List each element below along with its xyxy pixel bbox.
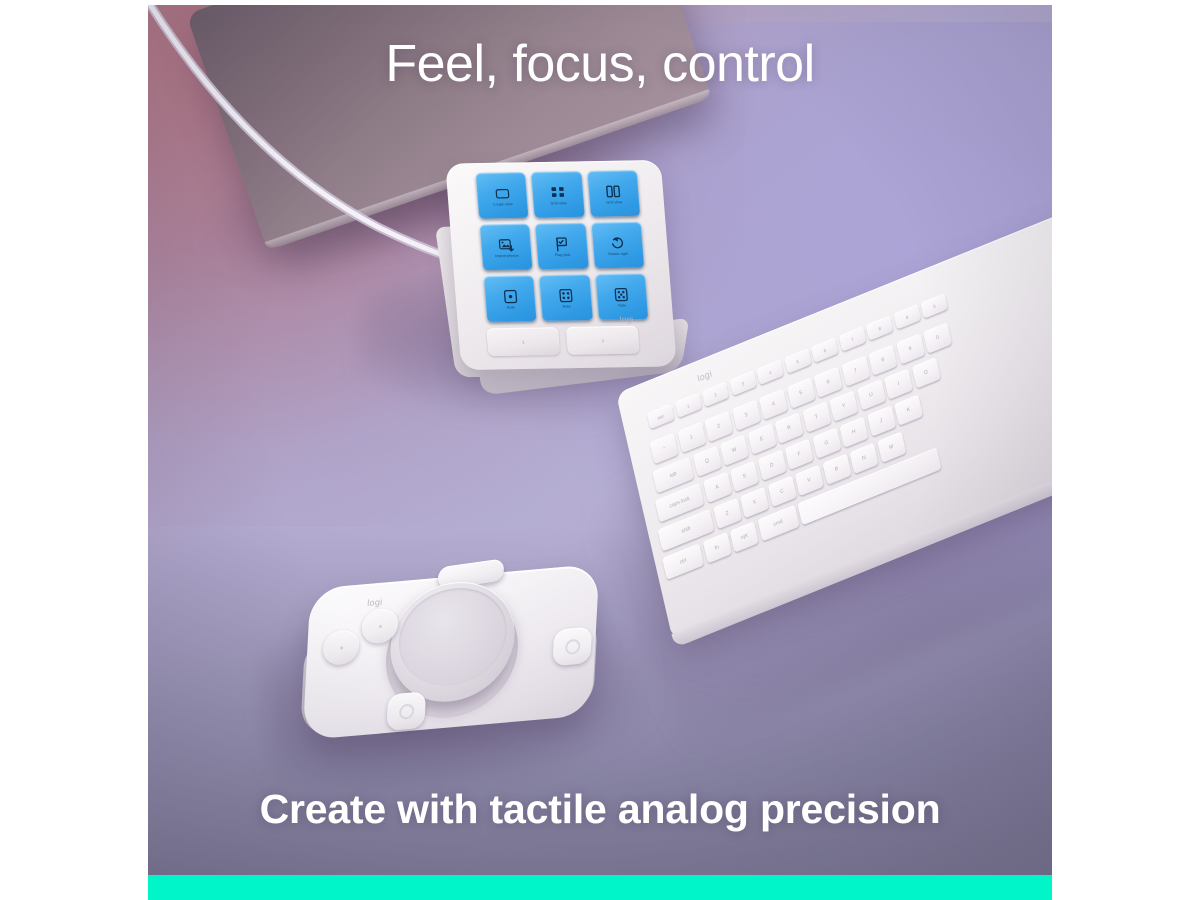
product-photo: Loupe view Grid view [148, 5, 1052, 875]
vignette-overlay [148, 5, 1052, 875]
product-marketing-image: Loupe view Grid view [0, 0, 1200, 900]
subheadline: Create with tactile analog precision [0, 786, 1200, 833]
accent-bar [148, 875, 1052, 900]
headline: Feel, focus, control [0, 34, 1200, 94]
